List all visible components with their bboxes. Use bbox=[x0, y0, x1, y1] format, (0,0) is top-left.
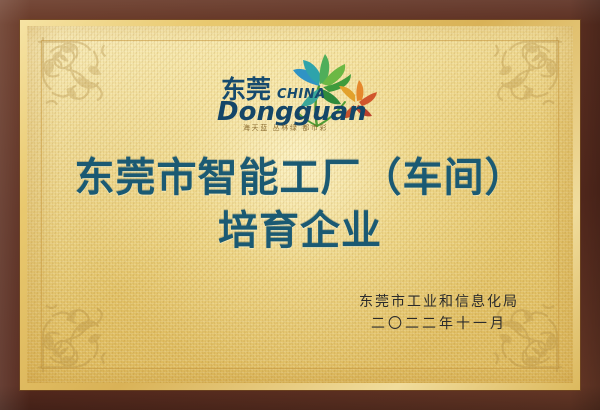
award-title-line-2: 培育企业 bbox=[27, 205, 573, 258]
award-title-line-1: 东莞市智能工厂（车间） bbox=[27, 152, 573, 205]
dongguan-city-logo: 东莞 CHINA Dongguan 海天蓝 丛林绿 都市彩 bbox=[205, 42, 395, 132]
issuer-signature-block: 东莞市工业和信息化局 二〇二二年十一月 bbox=[359, 291, 519, 335]
issuing-organization: 东莞市工业和信息化局 bbox=[359, 291, 519, 313]
logo-latin-name: Dongguan bbox=[217, 97, 367, 127]
award-title: 东莞市智能工厂（车间） 培育企业 bbox=[27, 152, 573, 258]
issue-date: 二〇二二年十一月 bbox=[359, 313, 519, 335]
award-plaque: 东莞 CHINA Dongguan 海天蓝 丛林绿 都市彩 东莞市智能工厂（车间… bbox=[0, 0, 600, 410]
gold-panel: 东莞 CHINA Dongguan 海天蓝 丛林绿 都市彩 东莞市智能工厂（车间… bbox=[27, 26, 573, 383]
logo-tagline: 海天蓝 丛林绿 都市彩 bbox=[243, 123, 328, 132]
